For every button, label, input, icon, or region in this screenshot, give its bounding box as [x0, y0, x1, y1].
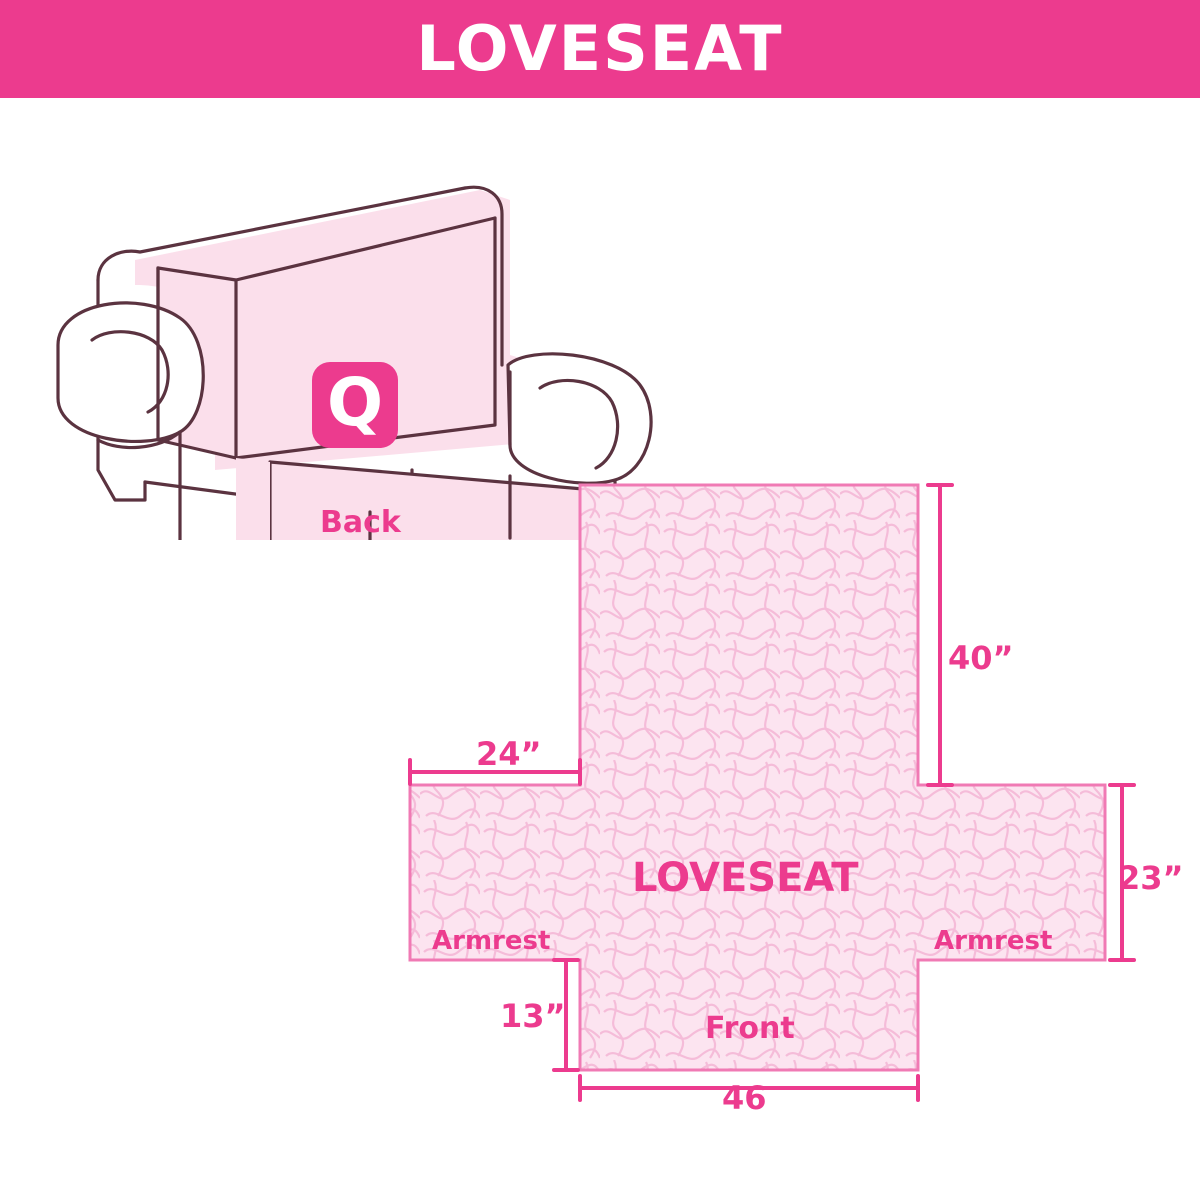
brand-logo-letter: Q	[327, 370, 383, 436]
brand-logo-badge: Q	[312, 362, 398, 448]
page-title: LOVESEAT	[416, 18, 783, 80]
header-bar: LOVESEAT	[0, 0, 1200, 98]
dimension-armrest-height: 23”	[1118, 862, 1184, 894]
dimension-front-skirt-height: 13”	[500, 1000, 566, 1032]
cover-shape	[410, 485, 1105, 1070]
dimension-back-height: 40”	[948, 642, 1014, 674]
panel-label-armrest-right: Armrest	[934, 928, 1052, 954]
dimension-armrest-left-width: 24”	[476, 738, 542, 770]
diagram-center-label: LOVESEAT	[632, 858, 859, 898]
panel-label-back: Back	[320, 508, 401, 538]
panel-label-front: Front	[705, 1014, 795, 1044]
cover-layout-svg	[0, 460, 1200, 1200]
dimension-seat-width: 46	[722, 1082, 767, 1114]
page-root: LOVESEAT	[0, 0, 1200, 1200]
panel-label-armrest-left: Armrest	[432, 928, 550, 954]
